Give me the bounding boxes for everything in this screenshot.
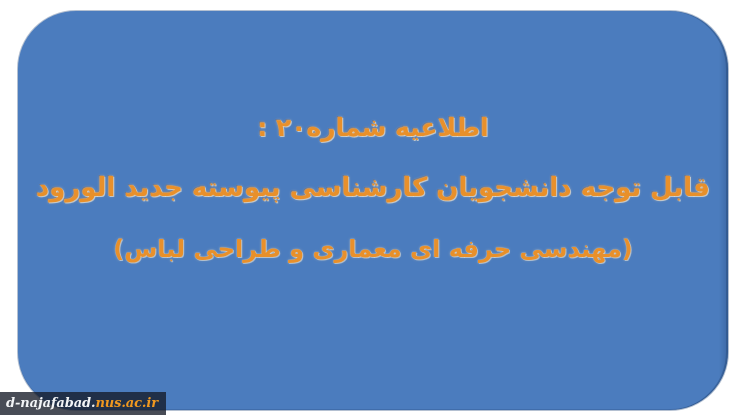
announcement-text-block: اطلاعیه شماره۲۰ : قابل توجه دانشجویان کا… bbox=[18, 11, 728, 410]
site-watermark: d-najafabad. nus.ac.ir bbox=[0, 392, 166, 415]
watermark-domain-text: nus.ac.ir bbox=[95, 397, 158, 410]
announcement-audience-line: قابل توجه دانشجویان کارشناسی پیوسته جدید… bbox=[36, 172, 710, 204]
announcement-title: اطلاعیه شماره۲۰ : bbox=[257, 113, 488, 143]
watermark-site-text: d-najafabad. bbox=[6, 397, 95, 410]
announcement-majors-line: (مهندسی حرفه ای معماری و طراحی لباس) bbox=[113, 234, 633, 264]
announcement-image: اطلاعیه شماره۲۰ : قابل توجه دانشجویان کا… bbox=[0, 0, 746, 419]
